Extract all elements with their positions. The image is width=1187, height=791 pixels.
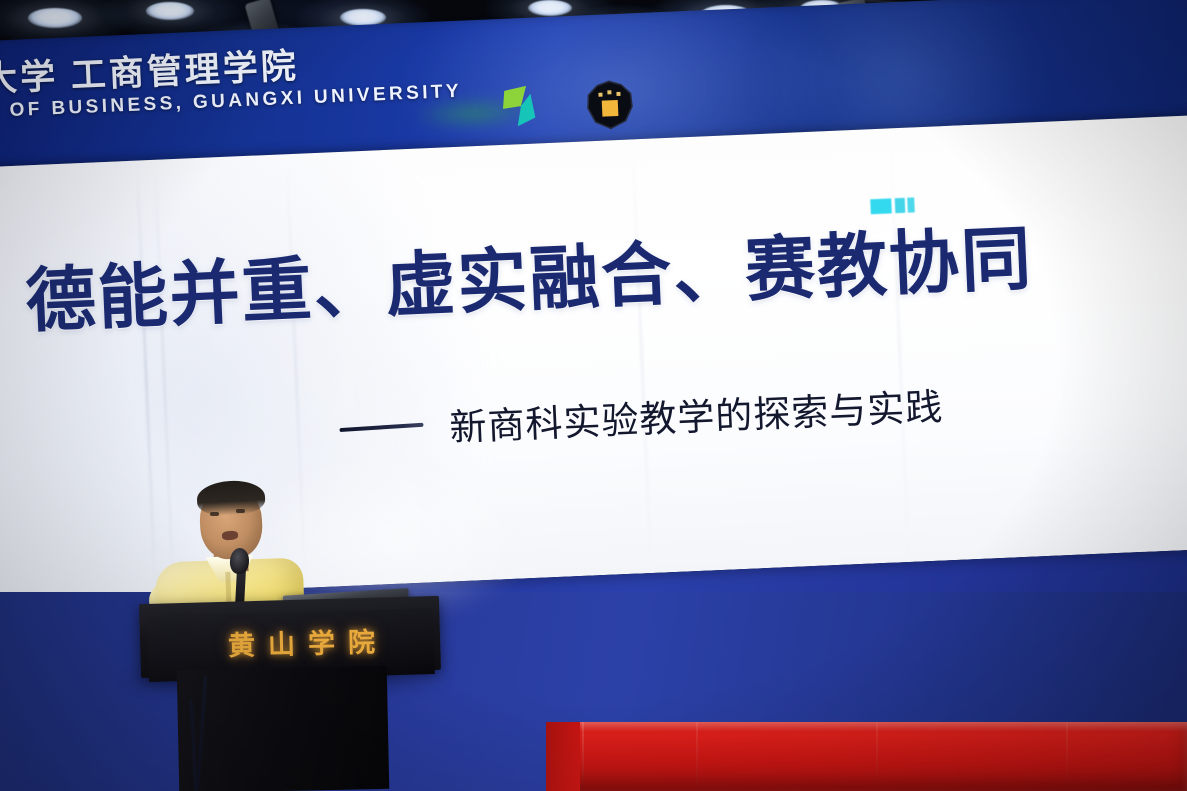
slide-accent-mark <box>870 197 915 214</box>
table-pleat <box>582 722 584 791</box>
speaker-eye <box>210 512 219 516</box>
podium-engraving: 黄山学院 <box>228 620 389 663</box>
table-corner <box>546 722 580 791</box>
em-dash-rule <box>339 423 423 432</box>
podium-column <box>177 666 390 791</box>
fabric-fold <box>631 139 652 573</box>
projection-slide <box>0 113 1187 601</box>
table-pleat <box>876 722 878 791</box>
leaf-logo-icon <box>500 83 548 131</box>
speaker-eye <box>236 509 245 513</box>
fabric-fold <box>889 128 910 562</box>
circular-emblem-icon <box>585 79 635 131</box>
presentation-photo: 广西大学 工商管理学院 SCHOOL OF BUSINESS, GUANGXI … <box>0 0 1187 791</box>
table-lip <box>546 722 1187 732</box>
red-draped-table <box>546 722 1187 791</box>
table-pleat <box>1066 722 1068 791</box>
table-pleat <box>696 722 698 791</box>
